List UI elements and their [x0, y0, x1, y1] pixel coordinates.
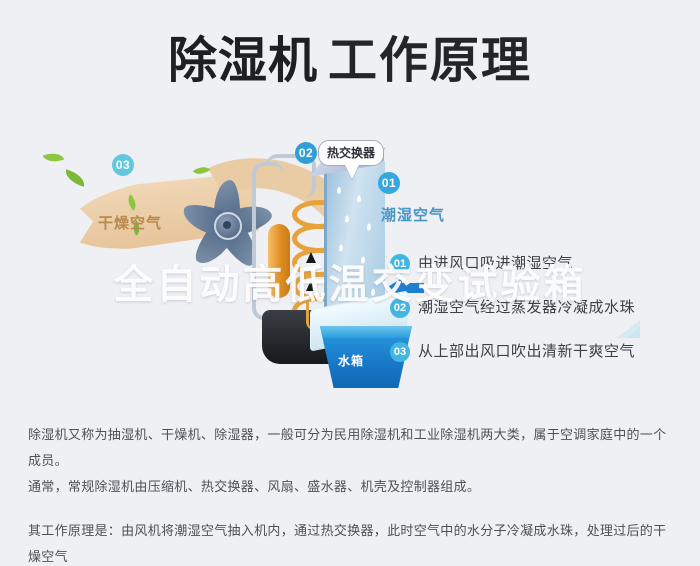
paragraph-1-line-2: 通常，常规除湿机由压缩机、热交换器、风扇、盛水器、机壳及控制器组成。 [28, 474, 678, 500]
flow-arrow-up-icon [306, 280, 316, 291]
step-badge: 02 [390, 298, 410, 318]
paragraph-1-line-1: 除湿机又称为抽湿机、干燥机、除湿器，一般可分为民用除湿机和工业除湿机两大类，属于… [28, 422, 678, 474]
list-item: 01 由进风口吸进潮湿空气 [390, 253, 690, 277]
water-droplet-icon [361, 256, 365, 264]
flow-arrow-up-icon [306, 252, 316, 263]
badge-dry-air: 03 [112, 154, 134, 176]
badge-humid-air: 01 [378, 172, 400, 194]
water-droplet-icon [371, 288, 375, 296]
fan-hub [214, 212, 242, 240]
step-badge: 03 [390, 342, 410, 362]
body-copy: 除湿机又称为抽湿机、干燥机、除湿器，一般可分为民用除湿机和工业除湿机两大类，属于… [28, 422, 678, 566]
badge-heat-exchanger: 02 [295, 142, 317, 164]
step-text: 由进风口吸进潮湿空气 [418, 253, 573, 275]
water-droplet-icon [339, 244, 343, 252]
compressor-cylinder [268, 224, 290, 298]
steps-list: 01 由进风口吸进潮湿空气 02 潮湿空气经过蒸发器冷凝成水珠 03 从上部出风… [390, 253, 690, 385]
step-badge: 01 [390, 254, 410, 274]
list-item: 02 潮湿空气经过蒸发器冷凝成水珠 [390, 297, 690, 321]
page-title-accent: 工作原理 [328, 34, 532, 88]
water-droplet-icon [345, 215, 349, 223]
step-text: 从上部出风口吹出清新干爽空气 [418, 341, 635, 363]
callout-tail [345, 165, 359, 179]
humid-air-label: 潮湿空气 [381, 204, 445, 225]
dry-air-label: 干燥空气 [98, 212, 162, 233]
paragraph-spacer [28, 500, 678, 518]
heat-exchanger-callout: 热交换器 [318, 140, 384, 166]
paragraph-2-line-1: 其工作原理是：由风机将潮湿空气抽入机内，通过热交换器，此时空气中的水分子冷凝成水… [28, 518, 678, 566]
infographic-page: 除湿机工作原理 干燥空气 03 [0, 0, 700, 566]
water-droplet-icon [347, 279, 351, 287]
heat-exchanger-label: 热交换器 [327, 146, 375, 160]
page-title-main: 除湿机 [168, 34, 318, 88]
water-tank-label: 水箱 [338, 352, 364, 369]
step-text: 潮湿空气经过蒸发器冷凝成水珠 [418, 297, 635, 319]
leaf-icon [43, 149, 65, 166]
list-item: 03 从上部出风口吹出清新干爽空气 [390, 341, 690, 365]
water-droplet-icon [367, 223, 371, 231]
water-droplet-icon [357, 195, 361, 203]
water-droplet-icon [337, 186, 341, 194]
page-title: 除湿机工作原理 [0, 32, 700, 90]
